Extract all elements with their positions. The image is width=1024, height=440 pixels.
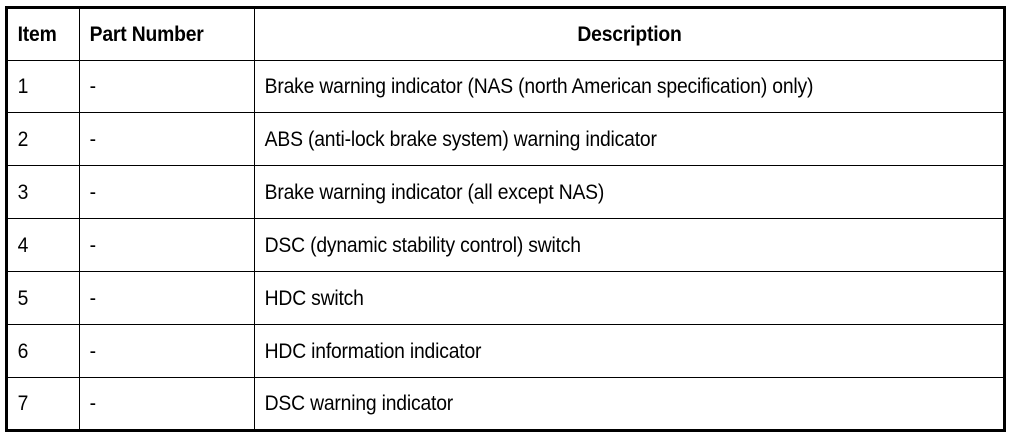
column-header-item: Item [7, 8, 74, 61]
table-row: 2 - ABS (anti-lock brake system) warning… [7, 113, 1005, 166]
cell-description-value: HDC switch [264, 287, 363, 310]
cell-description: DSC warning indicator [255, 378, 945, 431]
cell-item-value: 6 [17, 340, 28, 363]
cell-description: HDC information indicator [255, 325, 945, 378]
cell-part-number-value: - [89, 128, 95, 151]
cell-description: Brake warning indicator (all except NAS) [255, 166, 945, 219]
cell-part-number: - [80, 113, 241, 166]
table-row: 5 - HDC switch [7, 272, 1005, 325]
cell-part-number: - [80, 219, 241, 272]
column-header-description: Description [285, 8, 975, 61]
column-header-description-label: Description [577, 23, 681, 46]
cell-description-value: ABS (anti-lock brake system) warning ind… [264, 128, 656, 151]
cell-part-number-value: - [89, 75, 95, 98]
table-row: 4 - DSC (dynamic stability control) swit… [7, 219, 1005, 272]
cell-description-value: HDC information indicator [264, 340, 481, 363]
cell-description: Brake warning indicator (NAS (north Amer… [255, 60, 945, 113]
cell-item-value: 7 [17, 392, 28, 415]
table-header: Item Part Number Description [7, 8, 1005, 61]
cell-part-number: - [80, 378, 241, 431]
cell-part-number-value: - [89, 234, 95, 257]
cell-description-value: DSC (dynamic stability control) switch [264, 234, 580, 257]
cell-part-number: - [80, 272, 241, 325]
cell-item: 3 [7, 166, 74, 219]
page-root: Item Part Number Description 1 - Brake w… [0, 0, 1024, 440]
cell-item: 4 [7, 219, 74, 272]
cell-description: ABS (anti-lock brake system) warning ind… [255, 113, 945, 166]
cell-part-number: - [80, 325, 241, 378]
parts-legend-table: Item Part Number Description 1 - Brake w… [5, 6, 1006, 432]
table-row: 3 - Brake warning indicator (all except … [7, 166, 1005, 219]
cell-description-value: Brake warning indicator (NAS (north Amer… [264, 75, 813, 98]
column-header-part-number-label: Part Number [89, 23, 203, 46]
cell-part-number-value: - [89, 340, 95, 363]
cell-item: 7 [7, 378, 74, 431]
cell-item: 2 [7, 113, 74, 166]
cell-item: 5 [7, 272, 74, 325]
table-row: 6 - HDC information indicator [7, 325, 1005, 378]
cell-item-value: 2 [17, 128, 28, 151]
cell-part-number: - [80, 60, 241, 113]
cell-description: HDC switch [255, 272, 945, 325]
cell-description: DSC (dynamic stability control) switch [255, 219, 945, 272]
table-header-row: Item Part Number Description [7, 8, 1005, 61]
table-body: 1 - Brake warning indicator (NAS (north … [7, 60, 1005, 431]
cell-item-value: 1 [17, 75, 28, 98]
column-header-item-label: Item [17, 23, 56, 46]
cell-part-number: - [80, 166, 241, 219]
table-row: 7 - DSC warning indicator [7, 378, 1005, 431]
cell-part-number-value: - [89, 287, 95, 310]
cell-part-number-value: - [89, 181, 95, 204]
cell-item-value: 3 [17, 181, 28, 204]
cell-item: 6 [7, 325, 74, 378]
table-row: 1 - Brake warning indicator (NAS (north … [7, 60, 1005, 113]
cell-item-value: 4 [17, 234, 28, 257]
column-header-part-number: Part Number [80, 8, 241, 61]
cell-item-value: 5 [17, 287, 28, 310]
cell-description-value: Brake warning indicator (all except NAS) [264, 181, 603, 204]
cell-part-number-value: - [89, 392, 95, 415]
cell-description-value: DSC warning indicator [264, 392, 452, 415]
cell-item: 1 [7, 60, 74, 113]
